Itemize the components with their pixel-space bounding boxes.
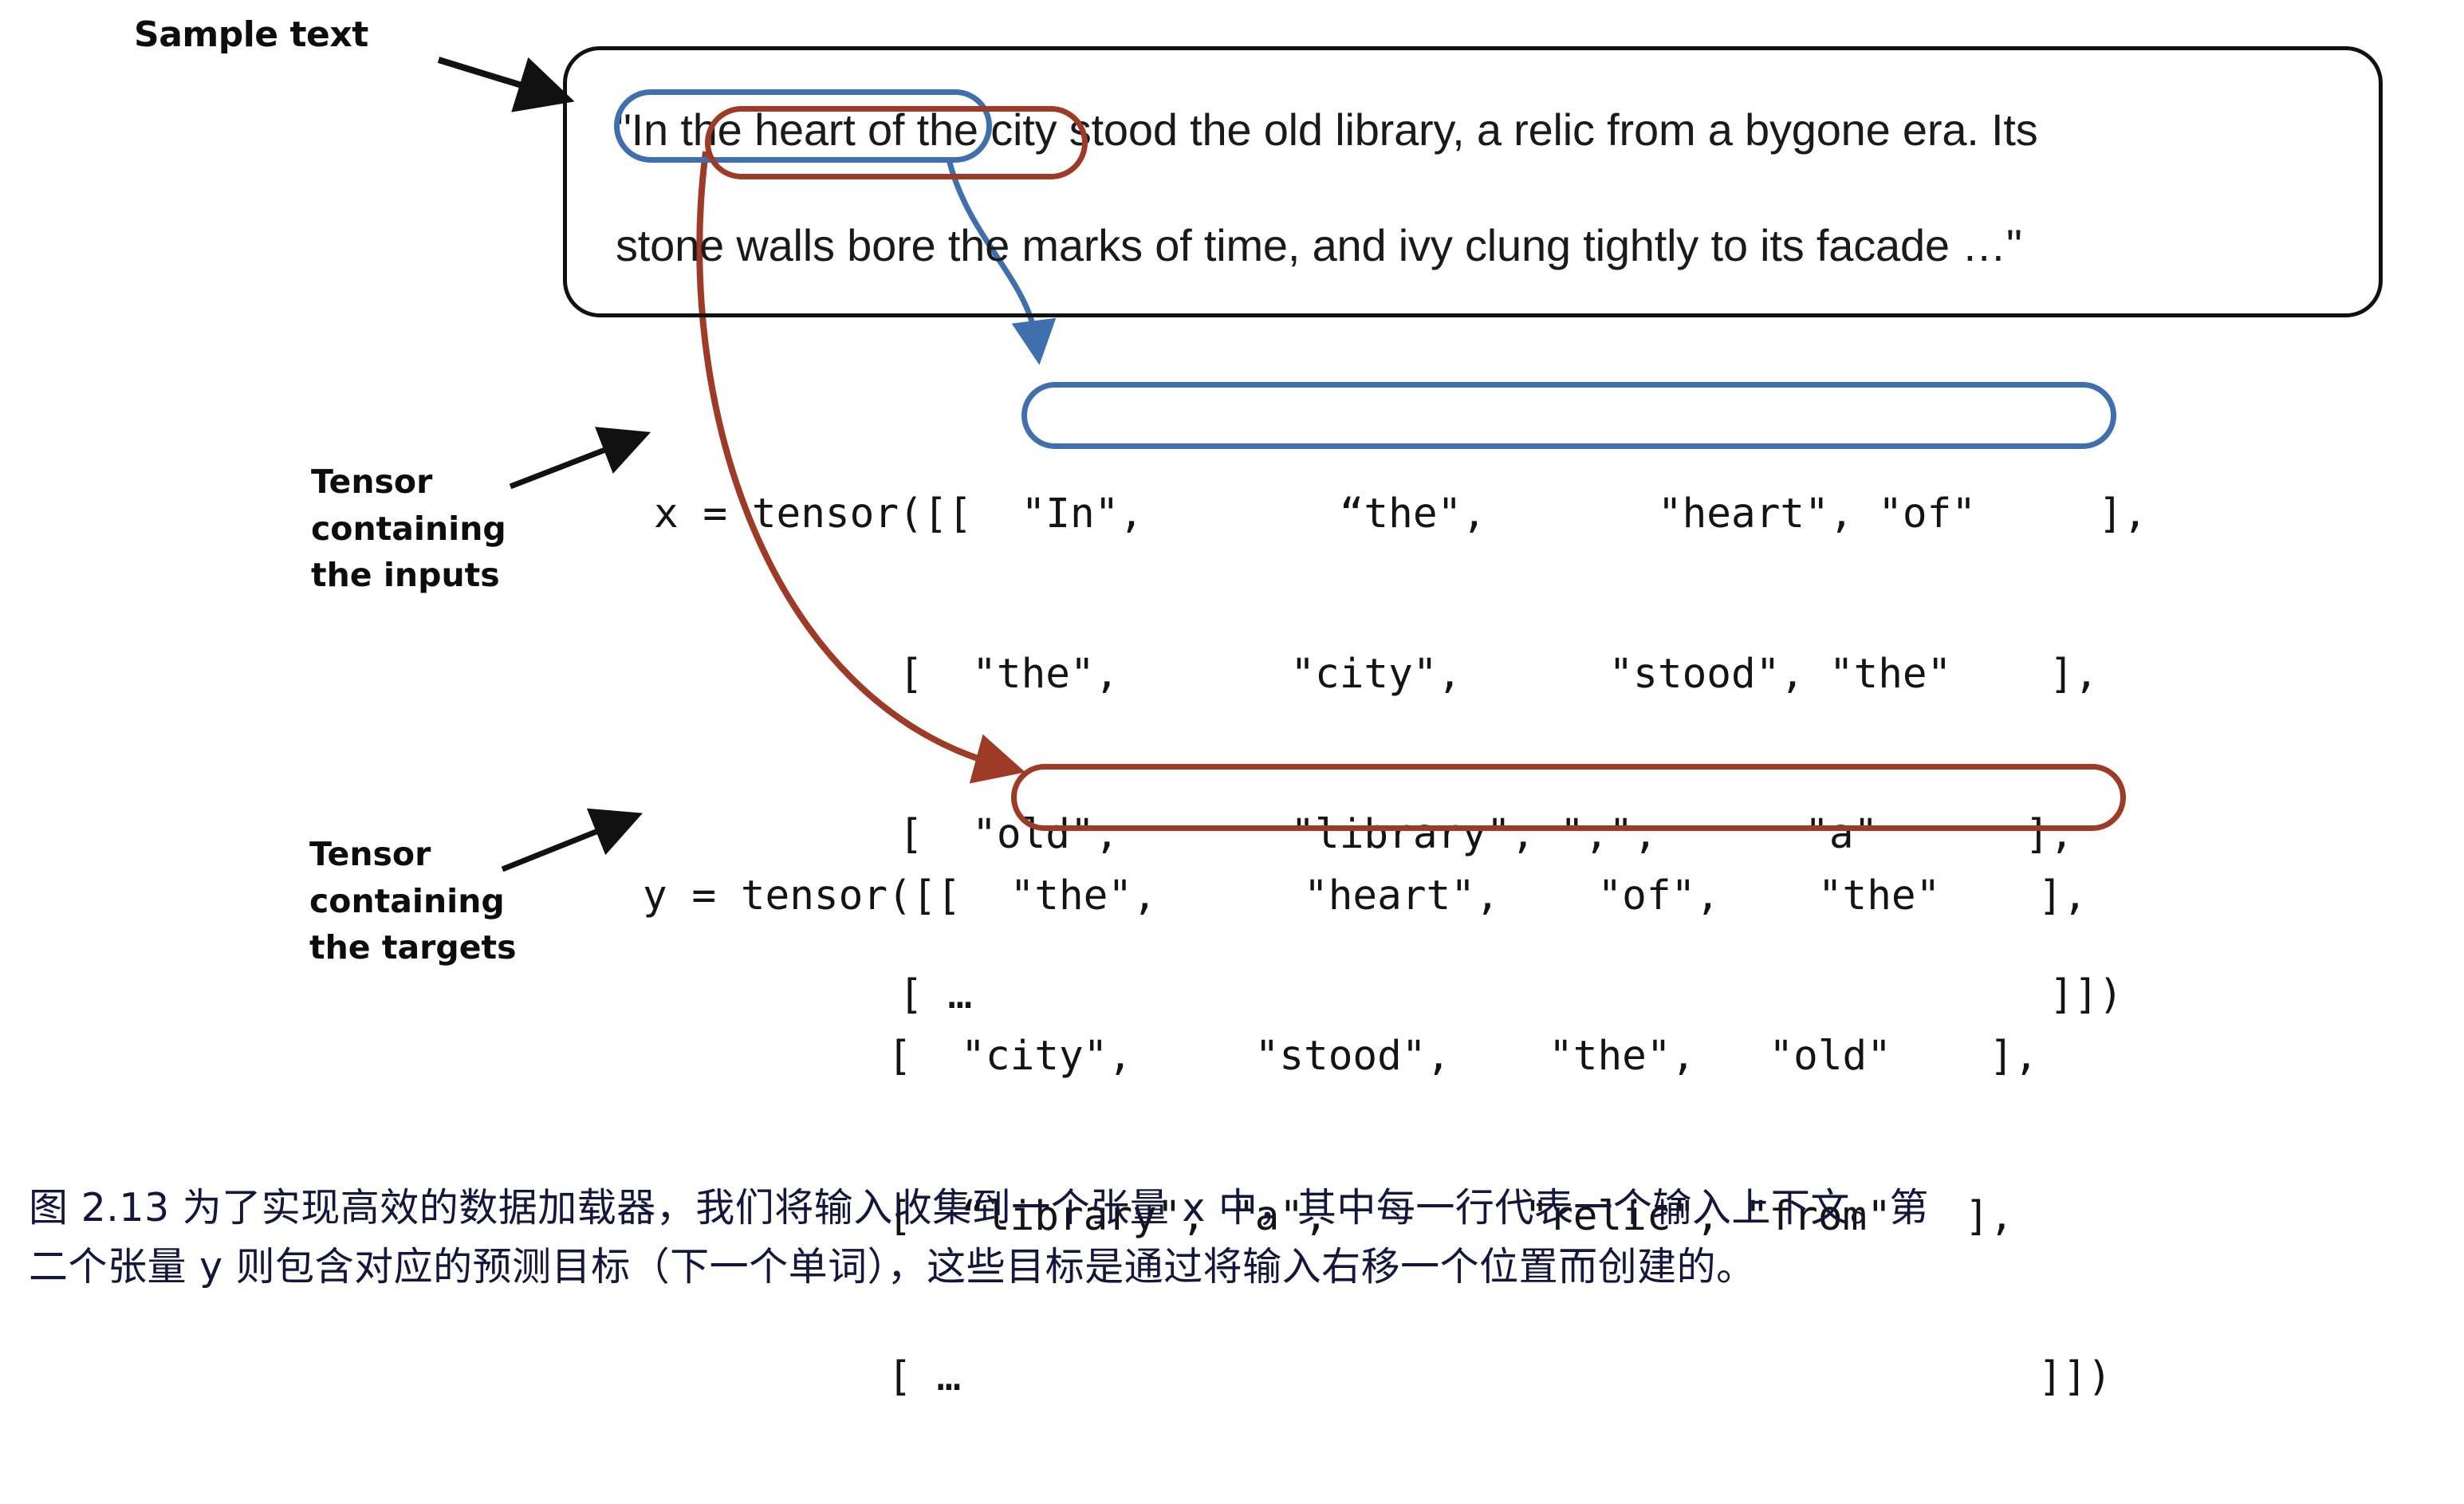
inputs-annotation-line-2: containing bbox=[311, 506, 506, 553]
tensor-y-row-0: y = tensor([[ "the", "heart", "of", "the… bbox=[643, 863, 2112, 929]
targets-annotation-label: Tensor containing the targets bbox=[309, 831, 517, 971]
tensor-x-row-0: x = tensor([[ "In", “the", "heart", "of"… bbox=[654, 481, 2147, 547]
inputs-label-arrow bbox=[510, 440, 630, 486]
sample-text-arrow bbox=[439, 60, 550, 94]
tensor-x-first-row-highlight bbox=[1021, 382, 2116, 449]
sample-text-box bbox=[563, 46, 2383, 317]
tensor-y-code: y = tensor([[ "the", "heart", "of", "the… bbox=[643, 769, 2112, 1504]
figure-caption-line-1: 图 2.13 为了实现高效的数据加载器，我们将输入收集到一个张量 x 中，其中每… bbox=[29, 1179, 2437, 1238]
inputs-annotation-line-3: the inputs bbox=[311, 552, 506, 599]
tensor-y-first-row-highlight bbox=[1011, 764, 2126, 831]
targets-label-arrow bbox=[502, 821, 622, 869]
targets-annotation-line-1: Tensor bbox=[309, 831, 517, 878]
inputs-annotation-line-1: Tensor bbox=[311, 459, 506, 506]
inputs-annotation-label: Tensor containing the inputs bbox=[311, 459, 506, 599]
tensor-y-row-3: [ … ]]) bbox=[643, 1344, 2112, 1410]
targets-annotation-line-2: containing bbox=[309, 878, 517, 925]
sample-text-line-2: stone walls bore the marks of time, and … bbox=[616, 219, 2022, 271]
figure-2-13: Sample text "In the heart of the city st… bbox=[0, 0, 2464, 1330]
figure-caption: 图 2.13 为了实现高效的数据加载器，我们将输入收集到一个张量 x 中，其中每… bbox=[29, 1179, 2437, 1297]
tensor-y-row-1: [ "city", "stood", "the", "old" ], bbox=[643, 1023, 2112, 1089]
sample-text-label: Sample text bbox=[134, 14, 368, 55]
figure-caption-line-2: 二个张量 y 则包含对应的预测目标（下一个单词），这些目标是通过将输入右移一个位… bbox=[29, 1238, 2437, 1297]
targets-annotation-line-3: the targets bbox=[309, 924, 517, 971]
sample-highlight-red bbox=[705, 106, 1088, 179]
tensor-x-row-1: [ "the", "city", "stood", "the" ], bbox=[654, 641, 2147, 707]
